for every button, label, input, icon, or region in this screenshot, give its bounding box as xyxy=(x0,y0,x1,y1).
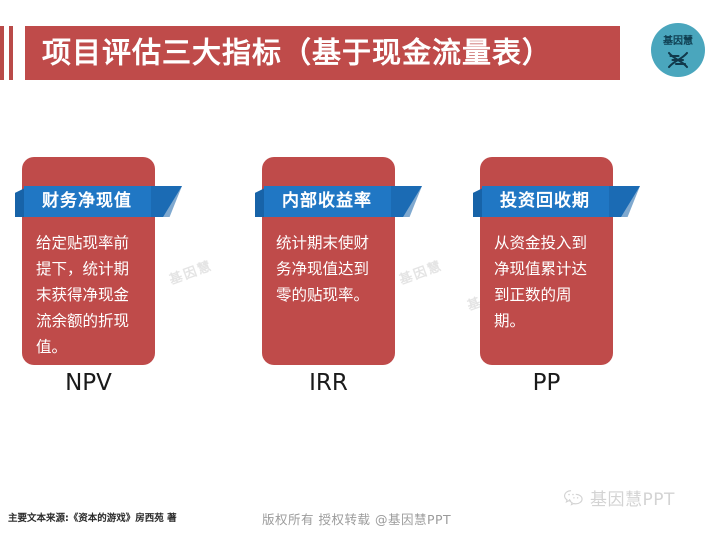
card-caption-npv: NPV xyxy=(22,372,155,395)
dna-helix-icon: 基因慧 xyxy=(651,23,705,77)
jiyinhui-logo: 基因慧 xyxy=(651,23,705,77)
card-caption-pp: PP xyxy=(480,372,613,395)
card-description: 从资金投入到净现值累计达到正数的周期。 xyxy=(494,230,601,334)
metric-card-irr[interactable]: 内部收益率 统计期末使财务净现值达到零的贴现率。 xyxy=(262,157,395,365)
page-title: 项目评估三大指标（基于现金流量表） xyxy=(42,39,552,68)
slide-title-area: 项目评估三大指标（基于现金流量表） xyxy=(0,26,720,80)
title-accent-bar-2 xyxy=(9,26,13,80)
card-caption-irr: IRR xyxy=(262,372,395,395)
card-ribbon-label: 内部收益率 xyxy=(255,186,399,217)
card-description: 给定贴现率前提下，统计期末获得净现金流余额的折现值。 xyxy=(36,230,143,360)
footer-wechat-handle: 基因慧PPT xyxy=(563,485,675,510)
card-ribbon: 投资回收期 xyxy=(473,186,640,217)
footer-source-note: 主要文本来源:《资本的游戏》房西苑 著 xyxy=(8,510,177,524)
title-banner: 项目评估三大指标（基于现金流量表） xyxy=(25,26,620,80)
footer-wechat-label: 基因慧PPT xyxy=(590,485,675,510)
card-ribbon-label: 投资回收期 xyxy=(473,186,617,217)
card-description: 统计期末使财务净现值达到零的贴现率。 xyxy=(276,230,383,308)
watermark: 基因慧 xyxy=(396,255,445,288)
card-ribbon-label: 财务净现值 xyxy=(15,186,159,217)
metric-card-pp[interactable]: 投资回收期 从资金投入到净现值累计达到正数的周期。 xyxy=(480,157,613,365)
card-ribbon: 财务净现值 xyxy=(15,186,182,217)
title-accent-bar-1 xyxy=(0,26,4,80)
footer-copyright-note: 版权所有 授权转载 @基因慧PPT xyxy=(262,509,451,528)
metric-card-npv[interactable]: 财务净现值 给定贴现率前提下，统计期末获得净现金流余额的折现值。 xyxy=(22,157,155,365)
wechat-icon xyxy=(563,487,584,508)
card-ribbon: 内部收益率 xyxy=(255,186,422,217)
svg-text:基因慧: 基因慧 xyxy=(662,34,693,47)
watermark: 基因慧 xyxy=(166,255,215,288)
